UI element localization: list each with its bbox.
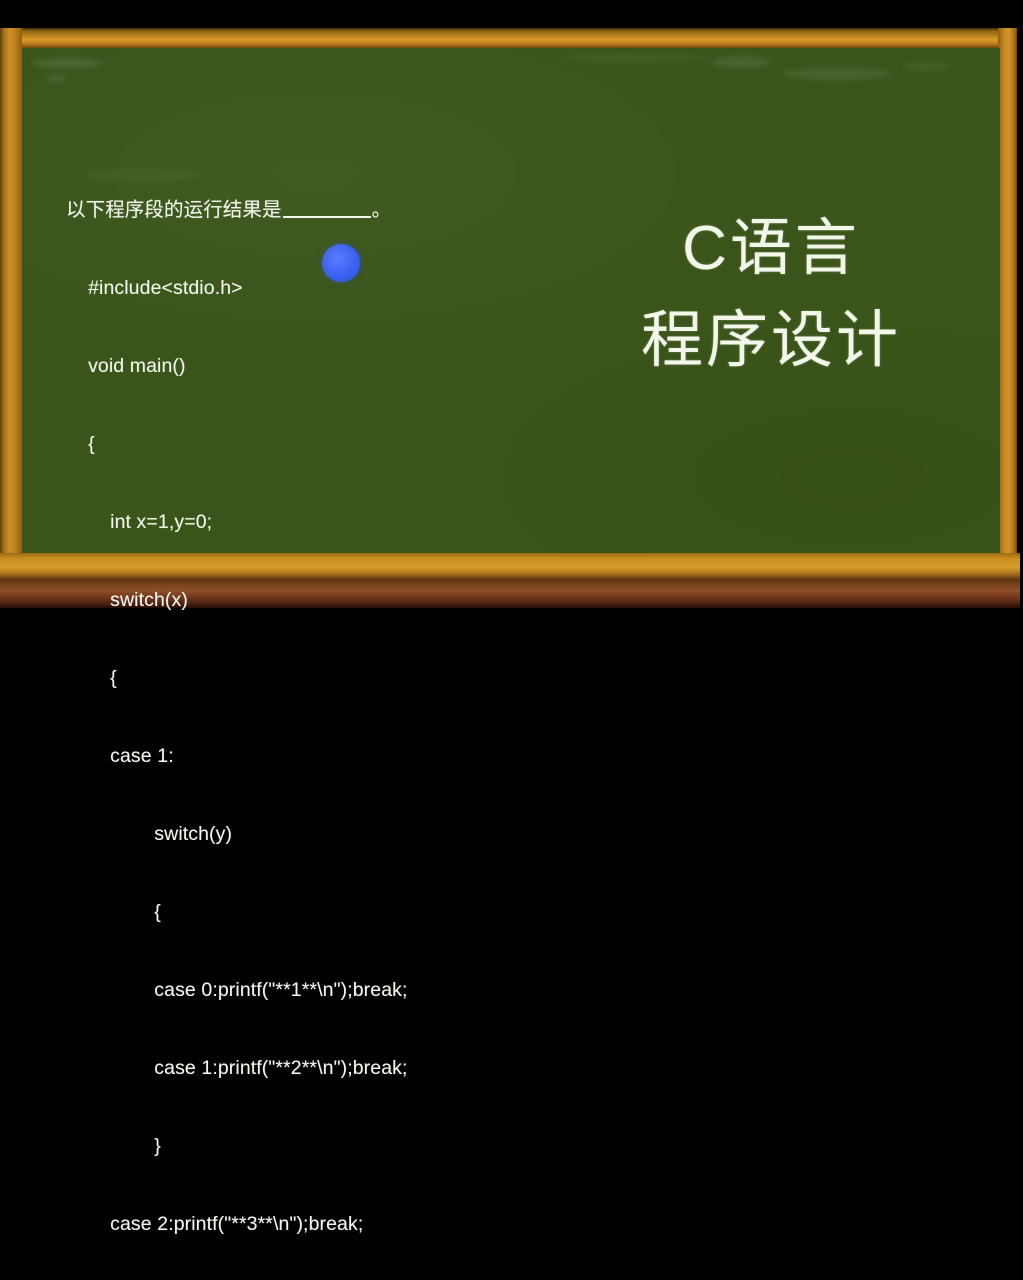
- frame-rail-left: [0, 28, 22, 608]
- course-title-line2: 程序设计: [596, 295, 946, 387]
- question-prompt-line: 以下程序段的运行结果是。: [66, 197, 408, 223]
- slide-stage: 以下程序段的运行结果是。 #include<stdio.h> void main…: [0, 0, 1023, 640]
- question-prompt-period: 。: [372, 199, 392, 221]
- chalk-smudge: [782, 68, 892, 80]
- code-line: case 1:printf("**2**\n");break;: [66, 1055, 408, 1081]
- laser-pointer-dot[interactable]: [322, 244, 360, 282]
- code-line: }: [66, 1133, 408, 1159]
- frame-rail-right: [998, 28, 1018, 608]
- code-line: {: [66, 431, 408, 457]
- blackboard-frame: 以下程序段的运行结果是。 #include<stdio.h> void main…: [0, 28, 1020, 608]
- code-line: case 0:printf("**1**\n");break;: [66, 977, 408, 1003]
- chalk-smudge: [32, 58, 102, 68]
- chalk-smudge: [562, 54, 712, 62]
- chalk-smudge: [46, 74, 68, 82]
- code-listing: 以下程序段的运行结果是。 #include<stdio.h> void main…: [66, 145, 408, 1280]
- code-line: #include<stdio.h>: [66, 275, 408, 301]
- code-line: int x=1,y=0;: [66, 509, 408, 535]
- frame-rail-top: [0, 28, 1020, 48]
- code-line: case 1:: [66, 743, 408, 769]
- course-title: C语言 程序设计: [596, 203, 946, 387]
- chalk-smudge: [902, 62, 952, 71]
- question-prompt-text: 以下程序段的运行结果是: [66, 199, 282, 221]
- code-line: switch(y): [66, 821, 408, 847]
- chalk-smudge: [712, 56, 772, 68]
- code-line: void main(): [66, 353, 408, 379]
- code-line: case 2:printf("**3**\n");break;: [66, 1211, 408, 1237]
- answer-blank: [283, 216, 371, 218]
- code-line: {: [66, 899, 408, 925]
- code-line: switch(x): [66, 587, 408, 613]
- frame-edge-right: [1017, 28, 1020, 608]
- course-title-line1: C语言: [596, 203, 946, 295]
- code-line: {: [66, 665, 408, 691]
